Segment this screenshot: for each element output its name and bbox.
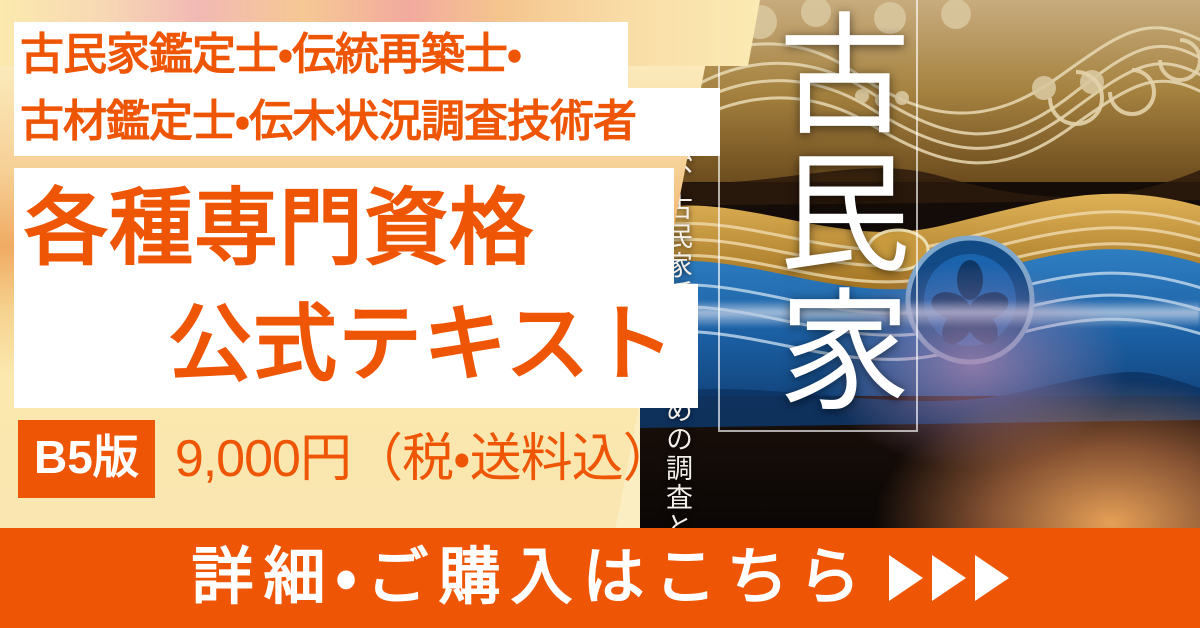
price-amount: 9,000円（税・送料込） (175, 433, 674, 485)
lead-text-line2: 古材鑑定士・伝木状況調査技術者 (20, 100, 636, 144)
cover-title: 古民家 (732, 6, 902, 420)
triangle-right-icon (932, 555, 966, 601)
cta-bar[interactable]: 詳細・ご購入はこちら (0, 528, 1200, 628)
triangle-right-icon (975, 555, 1009, 601)
triangle-right-icon (889, 555, 923, 601)
book-cover-image: 伝統構法、古民家活用のための調査と再生の 古民家 (640, 0, 1200, 536)
size-badge: B5版 (18, 420, 155, 498)
headline-line1: 各種専門資格 (24, 186, 534, 270)
promo-banner[interactable]: 伝統構法、古民家活用のための調査と再生の 古民家 古民家鑑定士・伝統再築士・ 古… (0, 0, 1200, 628)
price-row: B5版 9,000円（税・送料込） (18, 420, 674, 498)
lead-text-line1: 古民家鑑定士・伝統再築士・ (20, 33, 521, 77)
headline-line2: 公式テキスト (168, 302, 675, 386)
cta-label: 詳細・ご購入はこちら (191, 547, 870, 609)
cta-arrows (889, 555, 1009, 601)
